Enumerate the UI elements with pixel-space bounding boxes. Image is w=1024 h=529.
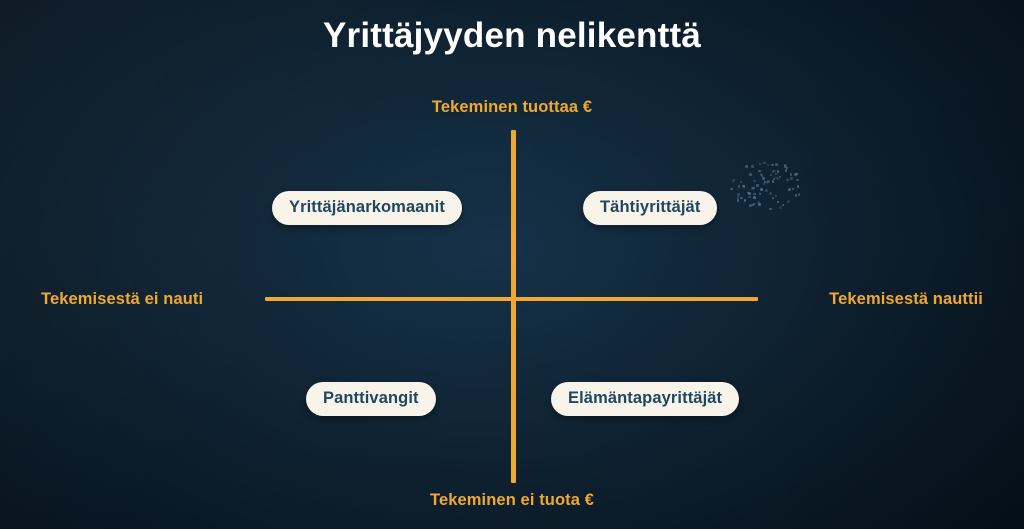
horizontal-axis-line [265,297,758,301]
quadrant-label-bottom-right: Elämäntapayrittäjät [551,382,739,416]
quadrant-slide: Yrittäjyyden nelikenttä Tekeminen tuotta… [0,0,1024,529]
axis-label-right: Tekemisestä nauttii [829,290,983,309]
page-title: Yrittäjyyden nelikenttä [0,16,1024,56]
dot-cluster-decoration-icon [726,158,804,210]
axis-label-left: Tekemisestä ei nauti [41,290,203,309]
vertical-axis-line [511,130,516,483]
axis-label-bottom: Tekeminen ei tuota € [0,491,1024,510]
axis-label-top: Tekeminen tuottaa € [0,98,1024,117]
quadrant-label-bottom-left: Panttivangit [306,382,436,416]
quadrant-label-top-right: Tähtiyrittäjät [583,191,717,225]
quadrant-label-top-left: Yrittäjänarkomaanit [272,191,462,225]
